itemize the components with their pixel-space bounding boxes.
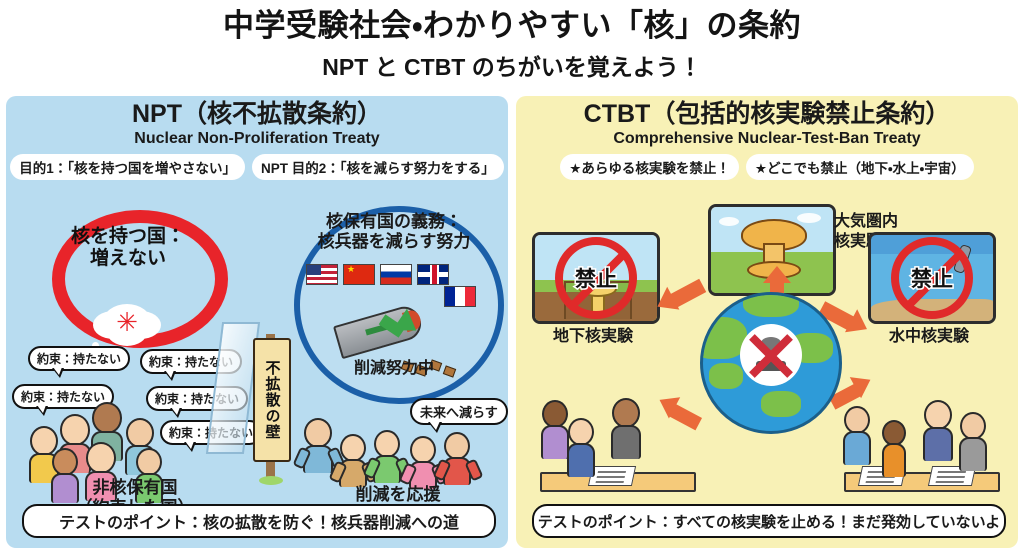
no-increase-label: 核を持つ国： 増えない: [42, 226, 214, 271]
person-head: [340, 434, 366, 462]
person-body: [843, 431, 870, 465]
member-states-right-group: [838, 396, 1004, 492]
underground-test-card: 禁止: [532, 232, 660, 324]
prohibited-label: 禁止: [575, 263, 617, 293]
underwater-test-caption: 水中核実験: [868, 322, 990, 346]
title-block: 中学受験社会・わかりやすい「核」の条約 NPT と CTBT のちがいを覚えよう…: [0, 0, 1024, 82]
person-body: [923, 427, 952, 461]
person-figure: [444, 432, 470, 485]
person-figure: [612, 398, 640, 459]
document-icon: [588, 466, 636, 486]
no-increase-label-line2: 増えない: [42, 248, 214, 270]
obligation-line1: 核保有国の義務：: [298, 212, 490, 232]
obligation-label: 核保有国の義務： 核兵器を減らす努力: [298, 212, 490, 253]
red-x-icon: [744, 328, 798, 382]
ctbt-illustration: 大気圏内 核実験 禁止: [516, 204, 1018, 504]
reduction-in-progress-label: 削減努力中: [306, 354, 482, 378]
ctbt-test-point-banner: テストのポイント：すべての核実験を止める！まだ発効していないよ: [532, 504, 1006, 538]
person-figure: [340, 434, 366, 487]
person-body: [959, 437, 986, 471]
person-head: [60, 414, 90, 446]
ctbt-title: CTBT（包括的核実験禁止条約）: [516, 101, 1018, 129]
prohibited-sign-icon: 禁止: [891, 237, 973, 319]
npt-test-point-banner: テストのポイント：核の拡散を防ぐ！核兵器削減への道: [22, 504, 496, 538]
person-head: [304, 418, 332, 448]
page-title: 中学受験社会・わかりやすい「核」の条約: [0, 8, 1024, 44]
ctbt-point-2-pill: ★どこでも禁止（地下・水上・宇宙）: [746, 154, 974, 180]
person-figure: [304, 418, 332, 473]
non-nuclear-crowd: [26, 396, 236, 488]
npt-title-english: Nuclear Non-Proliferation Treaty: [6, 130, 508, 148]
prohibited-label: 禁止: [911, 263, 953, 293]
atmos-caption-line1: 大気圏内: [834, 212, 934, 232]
person-figure: [374, 430, 400, 483]
flag-united-kingdom-icon: [417, 264, 449, 285]
ctbt-header: CTBT（包括的核実験禁止条約） Comprehensive Nuclear-T…: [516, 96, 1018, 148]
npt-illustration: 核を持つ国： 増えない ✳ 約束：持たない 約束：持たない 約束：持たない 約束…: [6, 204, 508, 504]
cloud-icon: [719, 217, 739, 226]
obligation-line2: 核兵器を減らす努力: [298, 232, 490, 252]
underwater-test-card: 禁止: [868, 232, 996, 324]
person-head: [410, 436, 436, 464]
prohibited-sign-icon: 禁止: [555, 237, 637, 319]
member-states-left-group: [534, 396, 700, 492]
person-head: [126, 418, 154, 448]
person-body: [541, 425, 568, 459]
grass-icon: [259, 476, 283, 485]
underground-test-caption: 地下核実験: [532, 322, 654, 346]
person-head: [374, 430, 400, 458]
landmass: [709, 363, 743, 389]
person-figure: [924, 400, 952, 461]
npt-title: NPT（核不拡散条約）: [6, 101, 508, 129]
non-proliferation-wall-sign: 不拡散の壁: [253, 326, 287, 484]
landmass: [743, 292, 799, 317]
flag-russia-icon: [380, 264, 412, 285]
npt-panel: NPT（核不拡散条約） Nuclear Non-Proliferation Tr…: [6, 96, 508, 548]
person-body: [611, 425, 640, 459]
sign-board: 不拡散の壁: [253, 338, 291, 462]
person-head: [568, 418, 594, 446]
person-head: [612, 398, 640, 428]
globe-icon: [700, 292, 842, 434]
person-body: [567, 443, 594, 477]
person-figure: [844, 406, 870, 465]
flag-china-icon: [343, 264, 375, 285]
person-figure: [960, 412, 986, 471]
flag-united-states-icon: [306, 264, 338, 285]
person-head: [924, 400, 952, 430]
npt-header: NPT（核不拡散条約） Nuclear Non-Proliferation Tr…: [6, 96, 508, 148]
person-head: [52, 448, 78, 476]
person-head: [844, 406, 870, 434]
ctbt-panel: CTBT（包括的核実験禁止条約） Comprehensive Nuclear-T…: [516, 96, 1018, 548]
supporting-crowd: [300, 416, 496, 488]
person-figure: [542, 400, 568, 459]
asterisk-glyph: ✳: [116, 309, 138, 335]
person-figure: [568, 418, 594, 477]
npt-purpose-pills: 目的1：「核を持つ国を増やさない」 NPT 目的2：「核を減らす努力をする」: [6, 154, 508, 180]
panels-container: NPT（核不拡散条約） Nuclear Non-Proliferation Tr…: [0, 96, 1024, 554]
npt-purpose-1-pill: 目的1：「核を持つ国を増やさない」: [10, 154, 245, 180]
promise-bubble: 約束：持たない: [28, 346, 130, 371]
person-head: [136, 448, 162, 476]
page-subtitle: NPT と CTBT のちがいを覚えよう！: [0, 48, 1024, 82]
infographic-page: 中学受験社会・わかりやすい「核」の条約 NPT と CTBT のちがいを覚えよう…: [0, 0, 1024, 558]
person-figure: [882, 420, 906, 477]
person-head: [92, 402, 122, 434]
person-head: [542, 400, 568, 428]
person-body: [882, 443, 907, 477]
person-head: [960, 412, 986, 440]
npt-purpose-2-pill: NPT 目的2：「核を減らす努力をする」: [252, 154, 504, 180]
person-head: [444, 432, 470, 460]
wall-sign-text: 不拡散の壁: [262, 360, 283, 440]
landmass: [761, 391, 801, 417]
ctbt-point-pills: ★あらゆる核実験を禁止！ ★どこでも禁止（地下・水上・宇宙）: [516, 154, 1018, 180]
ctbt-point-1-pill: ★あらゆる核実験を禁止！: [560, 154, 739, 180]
non-nuclear-label-line1: 非核保有国: [20, 478, 250, 498]
no-increase-label-line1: 核を持つ国：: [42, 226, 214, 248]
ctbt-title-english: Comprehensive Nuclear-Test-Ban Treaty: [516, 130, 1018, 148]
nuclear-asterisk-icon: ✳: [103, 304, 151, 340]
support-reduction-label: 削減を応援: [300, 480, 496, 505]
no-nuclear-test-badge: [740, 324, 802, 386]
person-head: [86, 442, 116, 474]
